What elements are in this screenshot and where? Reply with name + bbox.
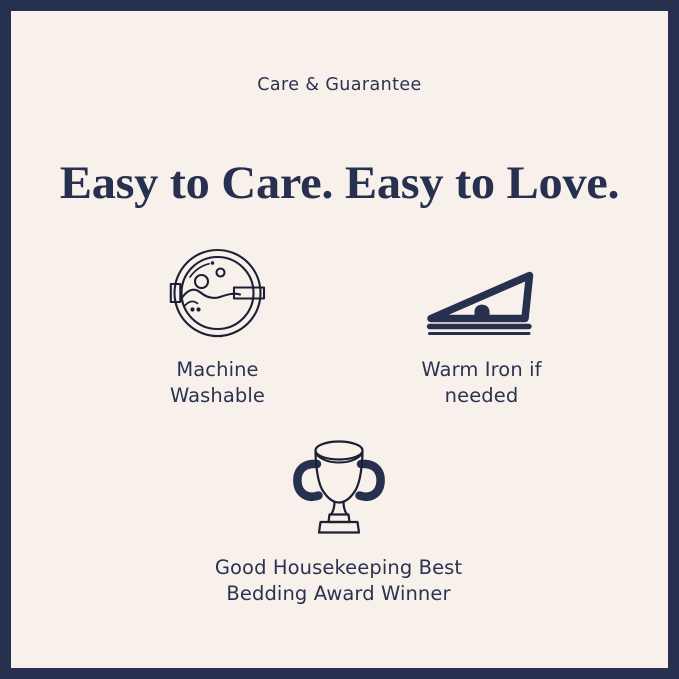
feature-caption: Machine Washable [115, 357, 320, 409]
caption-line-2: Washable [115, 383, 320, 409]
caption-line-1: Warm Iron if [379, 357, 584, 383]
feature-caption: Good Housekeeping Best Bedding Award Win… [151, 555, 526, 607]
feature-warm-iron: Warm Iron if needed [379, 247, 584, 409]
washing-machine-icon [170, 247, 265, 339]
feature-caption: Warm Iron if needed [379, 357, 584, 409]
iron-icon [428, 267, 535, 339]
washing-machine-icon-wrap [115, 247, 320, 339]
caption-line-1: Good Housekeeping Best [151, 555, 526, 581]
iron-icon-wrap [379, 247, 584, 339]
feature-award: Good Housekeeping Best Bedding Award Win… [151, 435, 526, 607]
care-guarantee-card: Care & Guarantee Easy to Care. Easy to L… [0, 0, 679, 679]
caption-line-2: Bedding Award Winner [151, 581, 526, 607]
feature-machine-washable: Machine Washable [115, 247, 320, 409]
page-title: Easy to Care. Easy to Love. [11, 156, 668, 210]
eyebrow-label: Care & Guarantee [11, 75, 668, 95]
caption-line-1: Machine [115, 357, 320, 383]
trophy-icon-wrap [151, 435, 526, 535]
caption-line-2: needed [379, 383, 584, 409]
trophy-icon [293, 435, 385, 535]
card-panel: Care & Guarantee Easy to Care. Easy to L… [11, 11, 668, 668]
